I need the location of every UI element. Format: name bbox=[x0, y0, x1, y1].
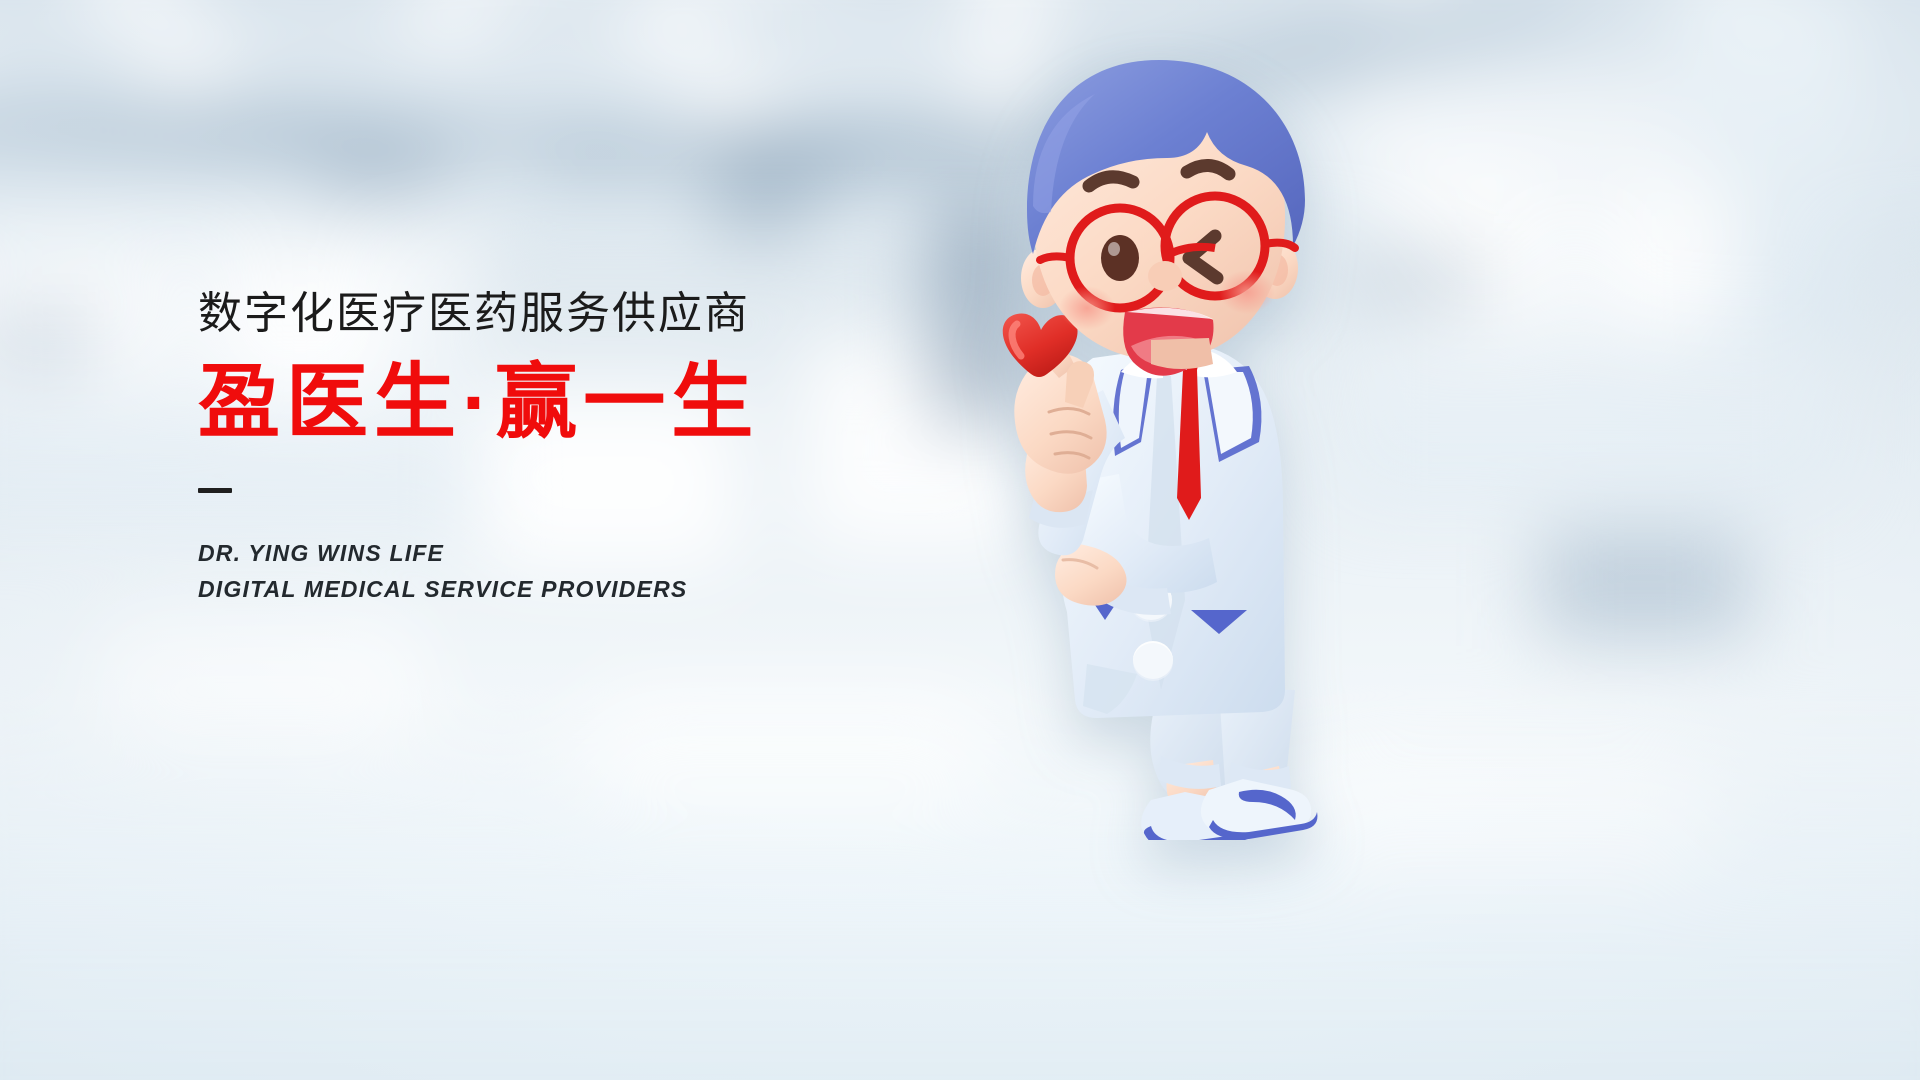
english-subtitle-group: DR. YING WINS LIFE DIGITAL MEDICAL SERVI… bbox=[198, 535, 958, 607]
window-glow bbox=[1590, 170, 1740, 330]
blurred-object bbox=[1540, 530, 1750, 640]
blurred-object bbox=[0, 310, 100, 370]
banner-stage: 数字化医疗医药服务供应商 盈医生·赢一生 DR. YING WINS LIFE … bbox=[0, 0, 1920, 1080]
english-line-2: DIGITAL MEDICAL SERVICE PROVIDERS bbox=[198, 571, 958, 607]
blurred-object bbox=[715, 135, 805, 235]
banner-subtitle: 数字化医疗医药服务供应商 bbox=[198, 292, 958, 336]
eye-open bbox=[1101, 235, 1139, 281]
floor-reflection bbox=[580, 680, 1000, 810]
divider-dash bbox=[198, 488, 232, 493]
doctor-mascot-illustration bbox=[975, 40, 1395, 840]
english-line-1: DR. YING WINS LIFE bbox=[198, 535, 958, 571]
floor-reflection bbox=[90, 620, 430, 740]
ceiling-light bbox=[685, 65, 780, 135]
cheek-left bbox=[1059, 286, 1115, 330]
blurred-object bbox=[800, 155, 870, 191]
cheek-right bbox=[1219, 270, 1275, 314]
doctor-mascot bbox=[975, 40, 1395, 840]
ceiling-light bbox=[130, 20, 240, 105]
banner-headline: 盈医生·赢一生 bbox=[198, 362, 958, 444]
blurred-object bbox=[315, 150, 445, 195]
headline-copy-block: 数字化医疗医药服务供应商 盈医生·赢一生 DR. YING WINS LIFE … bbox=[198, 292, 958, 607]
